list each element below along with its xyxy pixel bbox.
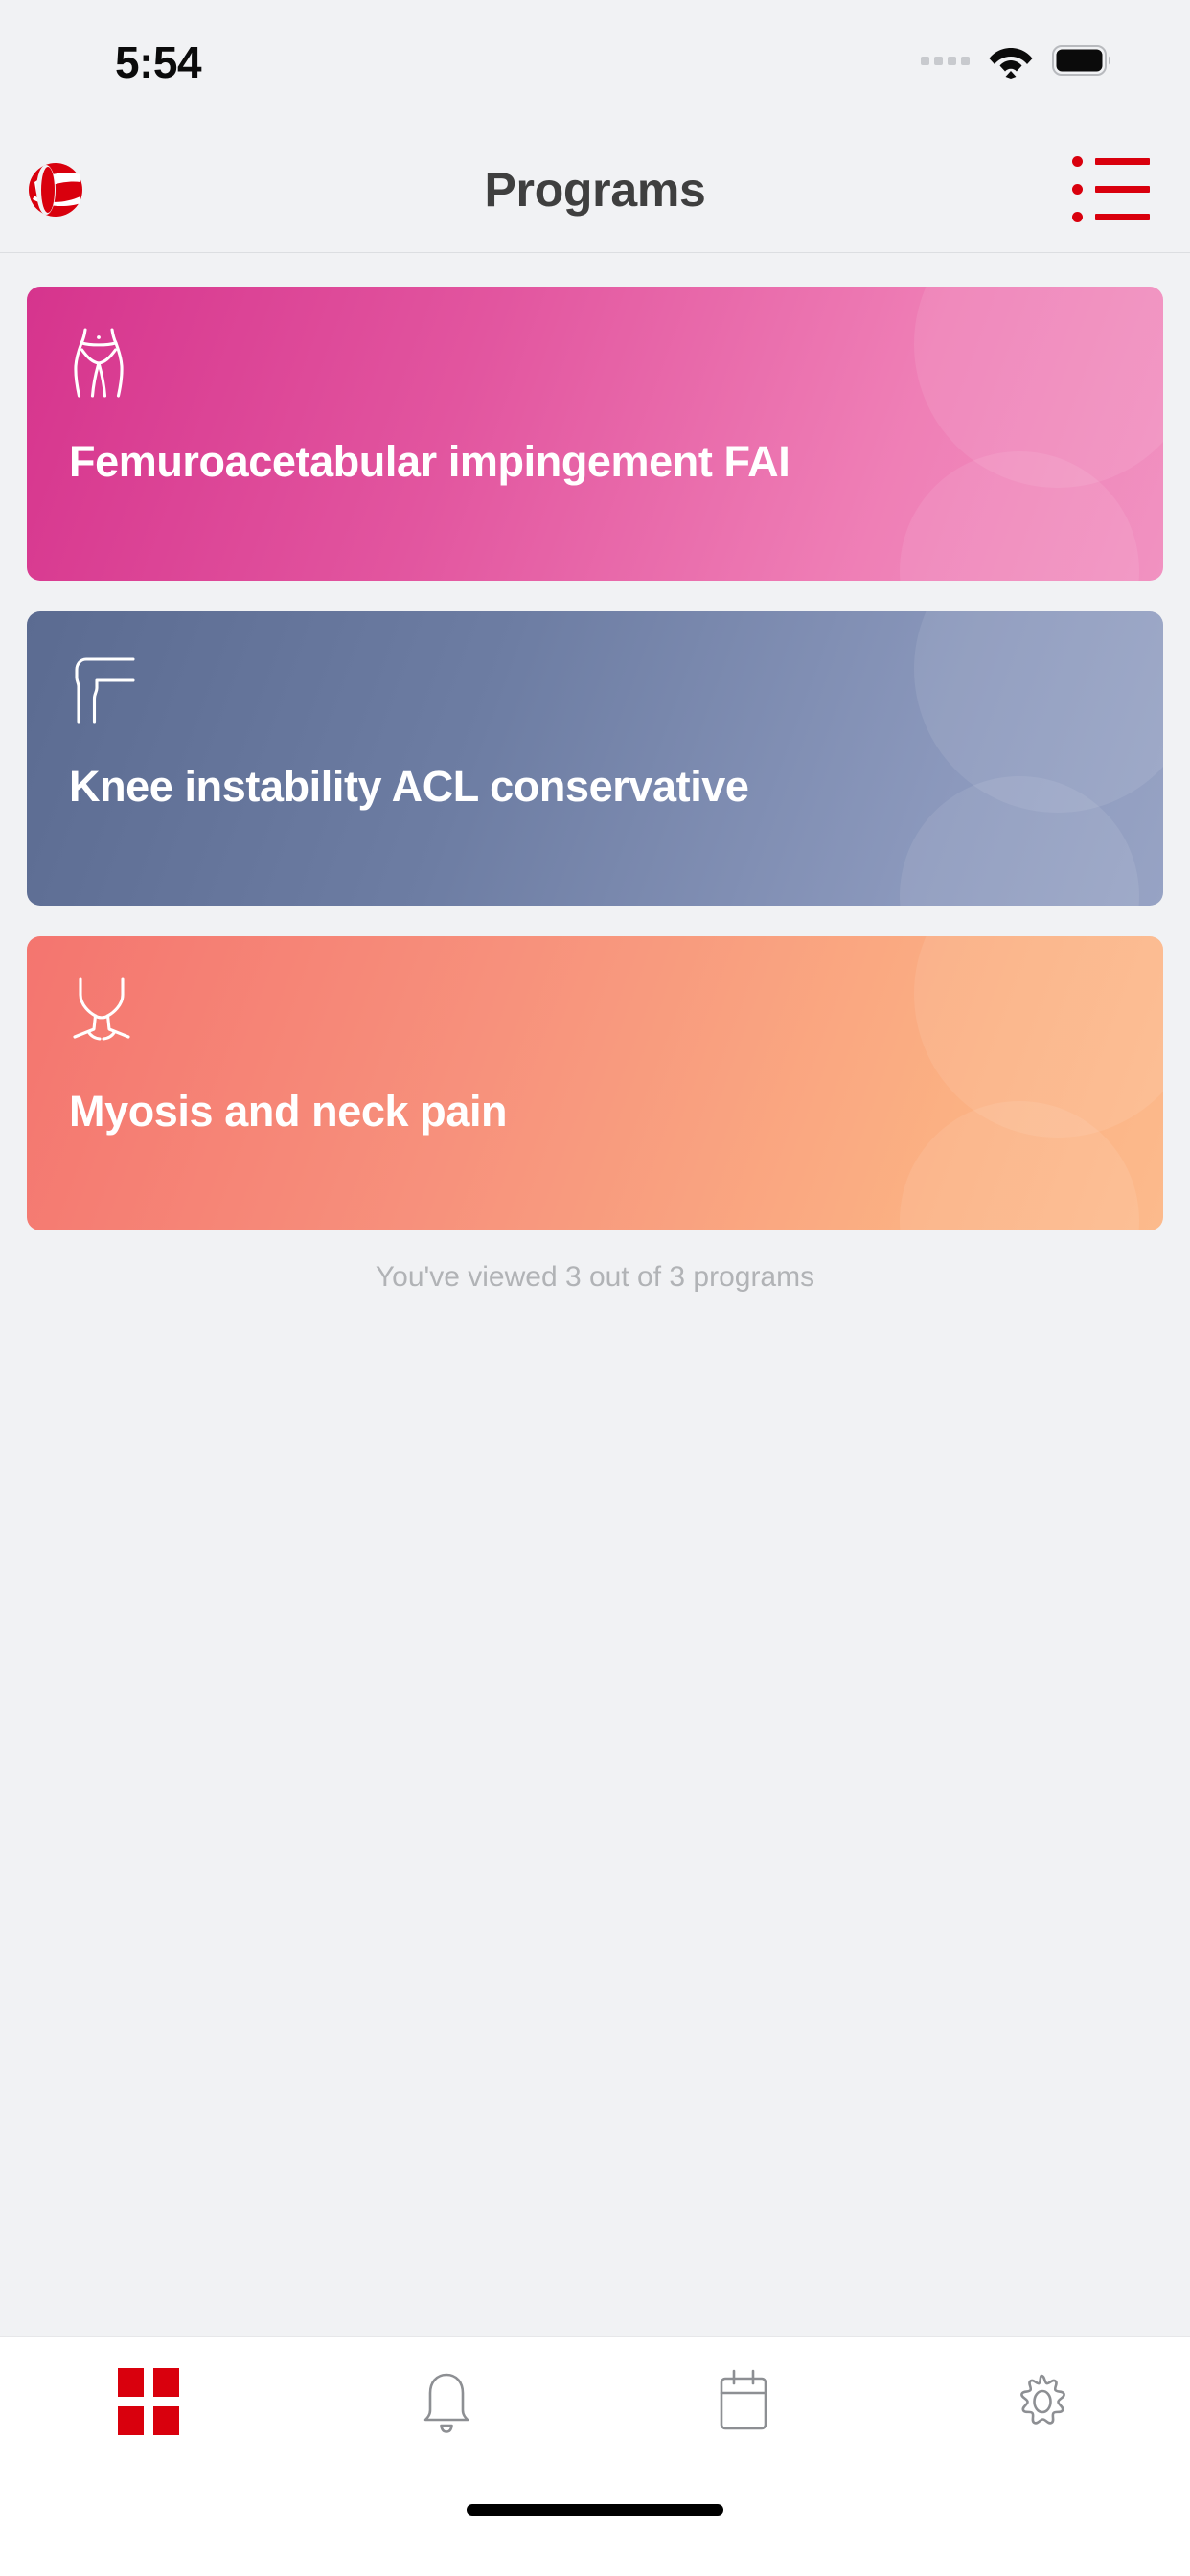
program-title: Femuroacetabular impingement FAI bbox=[69, 438, 1121, 486]
wifi-icon bbox=[987, 42, 1035, 79]
tab-notifications[interactable] bbox=[298, 2337, 596, 2466]
bulleted-list-icon[interactable] bbox=[1073, 152, 1148, 227]
viewed-count-note: You've viewed 3 out of 3 programs bbox=[27, 1261, 1163, 1294]
program-card[interactable]: Knee instability ACL conservative bbox=[27, 611, 1163, 906]
bottom-tab-bar bbox=[0, 2336, 1190, 2466]
nav-bar: Programs bbox=[0, 126, 1190, 253]
program-card[interactable]: Femuroacetabular impingement FAI bbox=[27, 287, 1163, 581]
tab-calendar[interactable] bbox=[595, 2337, 893, 2466]
programs-list: Femuroacetabular impingement FAI Knee in… bbox=[0, 253, 1190, 2336]
status-indicators bbox=[921, 42, 1111, 79]
hip-body-icon bbox=[69, 327, 1121, 400]
tab-settings[interactable] bbox=[893, 2337, 1190, 2466]
neck-shoulders-icon bbox=[69, 977, 1121, 1049]
page-title: Programs bbox=[484, 162, 705, 218]
signal-dots-icon bbox=[921, 57, 970, 65]
app-screen: 5:54 bbox=[0, 0, 1190, 2576]
gear-icon bbox=[1009, 2368, 1074, 2435]
status-bar: 5:54 bbox=[0, 0, 1190, 126]
battery-icon bbox=[1052, 45, 1111, 76]
bell-icon bbox=[417, 2368, 476, 2435]
home-indicator[interactable] bbox=[467, 2504, 723, 2516]
grid-icon bbox=[118, 2368, 179, 2435]
program-title: Knee instability ACL conservative bbox=[69, 763, 1121, 811]
brand-logo-icon[interactable] bbox=[25, 159, 86, 220]
status-time: 5:54 bbox=[115, 36, 201, 88]
home-indicator-area bbox=[0, 2466, 1190, 2576]
calendar-icon bbox=[714, 2368, 773, 2435]
tab-programs[interactable] bbox=[0, 2337, 298, 2466]
program-title: Myosis and neck pain bbox=[69, 1088, 1121, 1136]
knee-joint-icon bbox=[69, 652, 1121, 724]
program-card[interactable]: Myosis and neck pain bbox=[27, 936, 1163, 1230]
